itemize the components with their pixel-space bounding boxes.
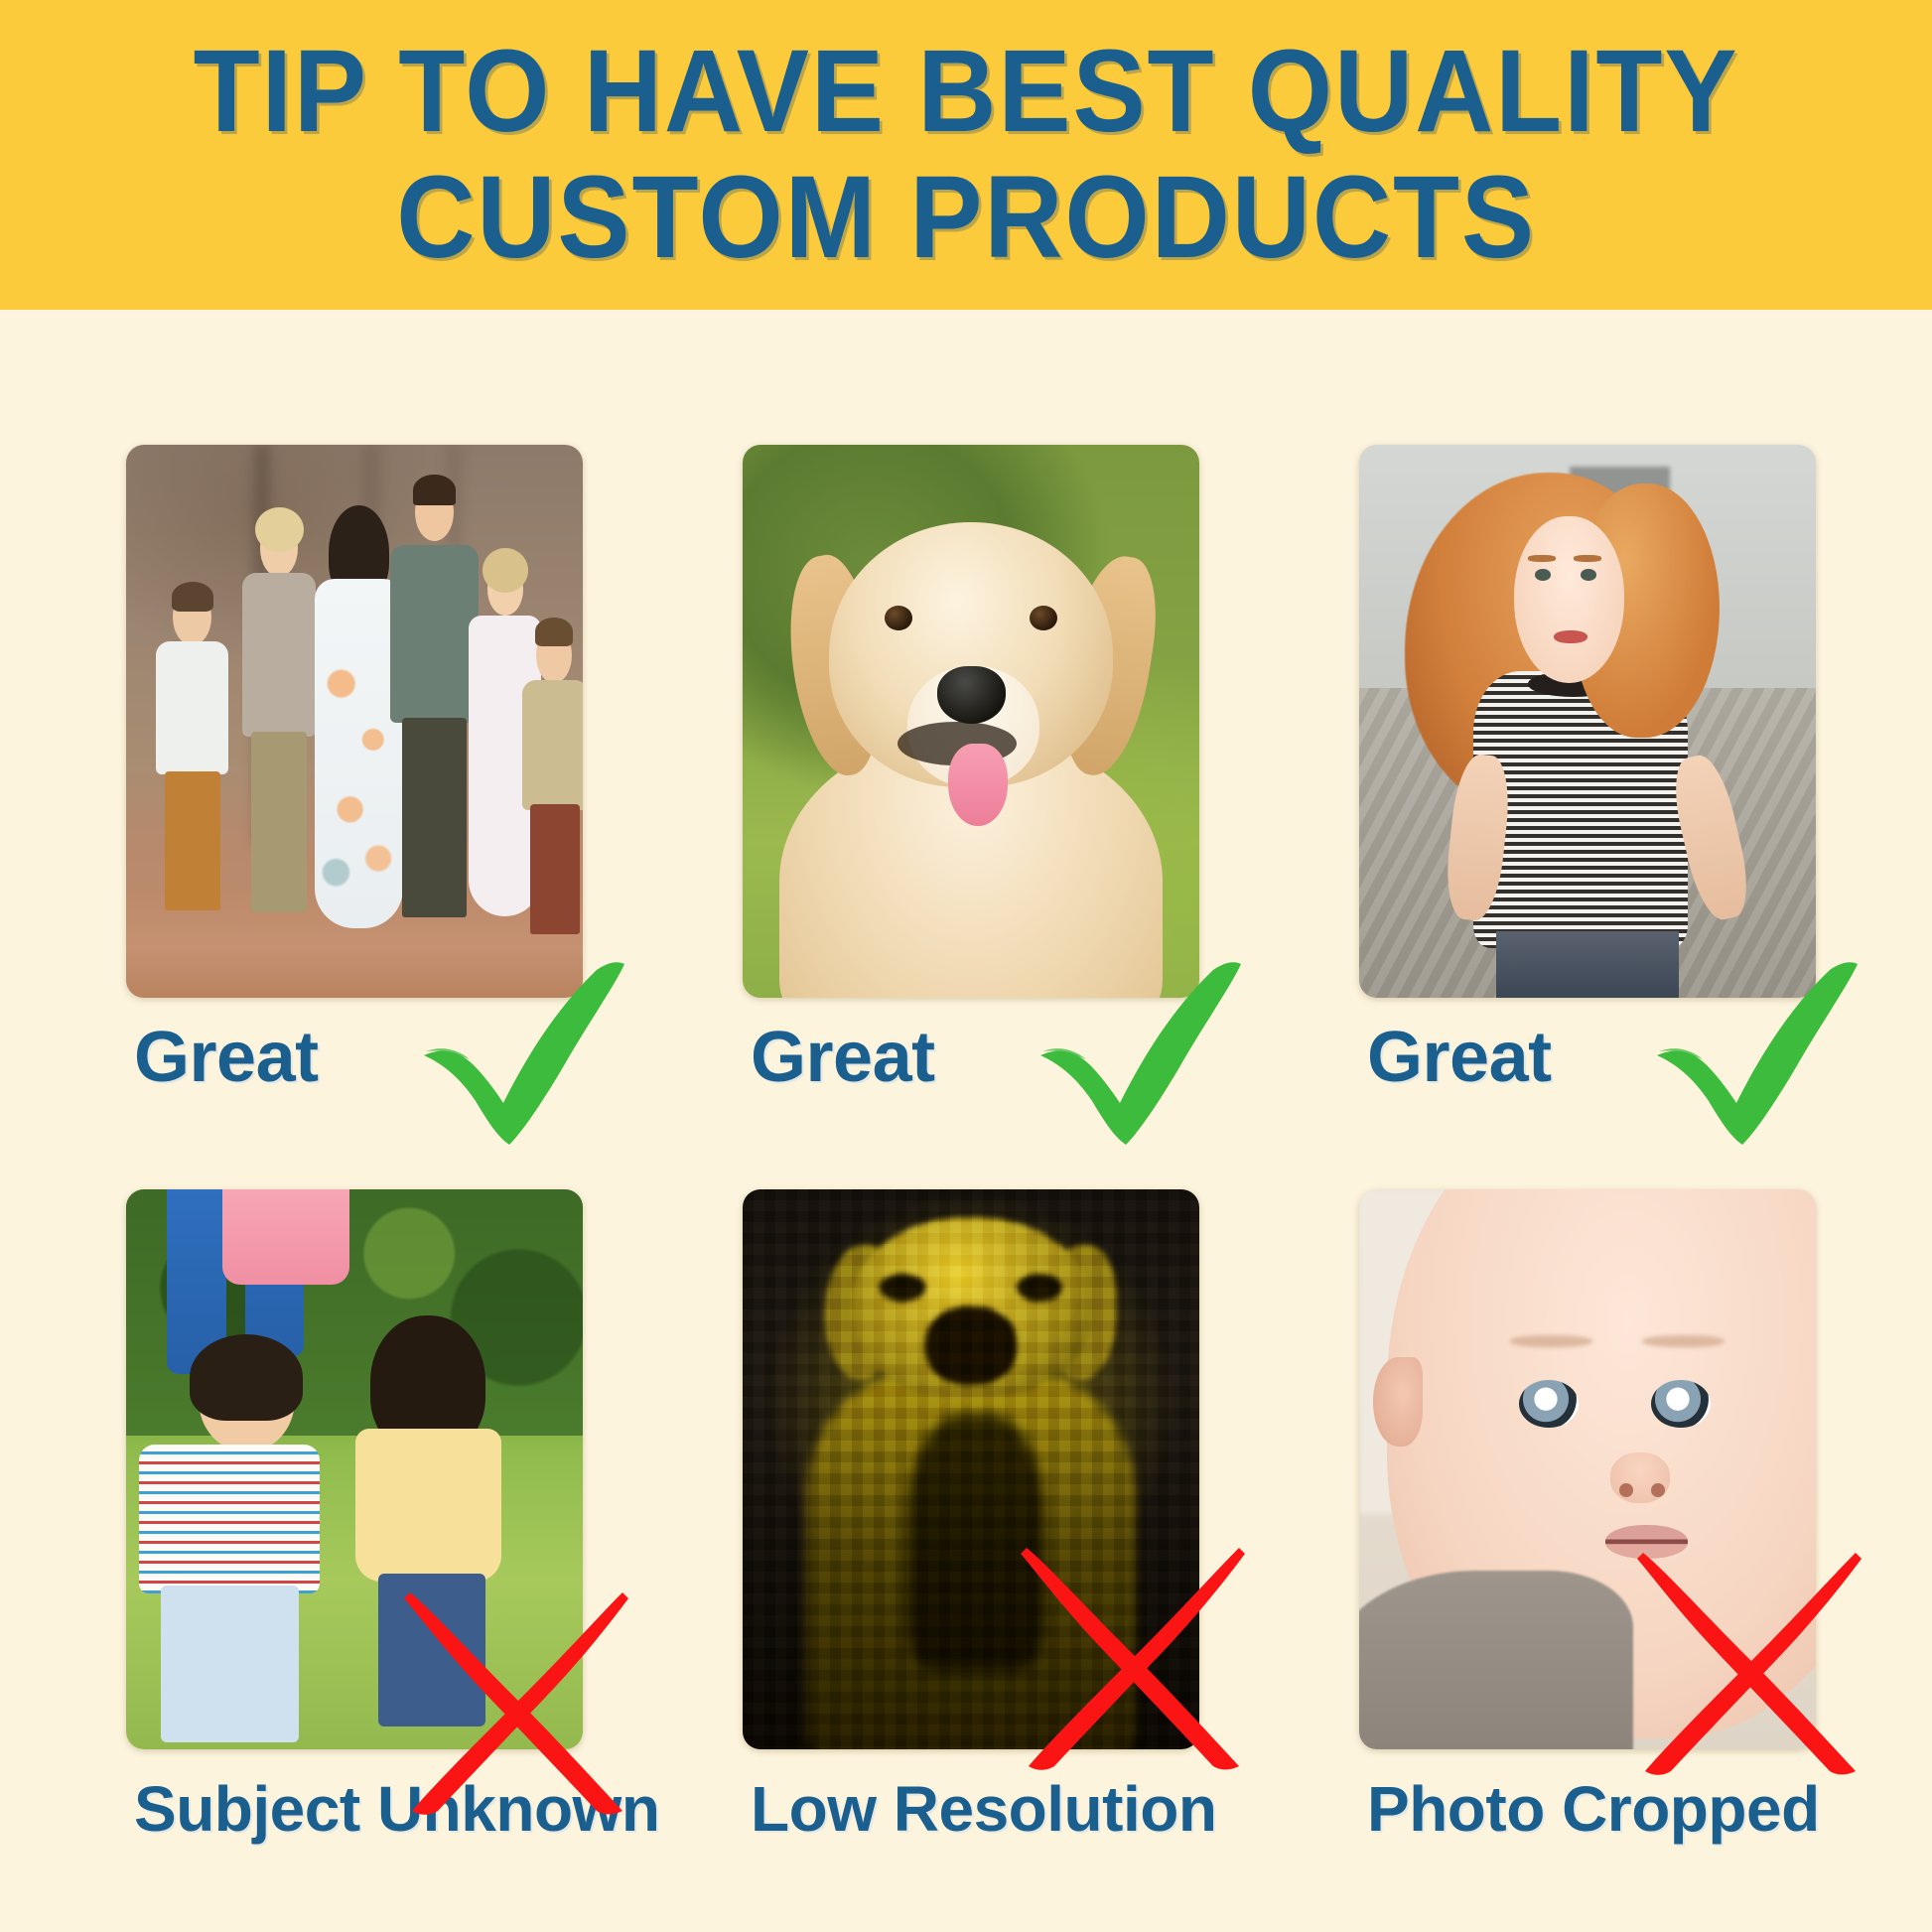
- example-label: Great: [751, 1017, 935, 1098]
- header-banner: TIP TO HAVE BEST QUALITY CUSTOM PRODUCTS: [0, 0, 1932, 310]
- caption-row: Great: [743, 998, 1199, 1117]
- caption-row: Photo Cropped: [1359, 1749, 1816, 1868]
- header-title-line-2: CUSTOM PRODUCTS: [396, 155, 1536, 281]
- examples-grid: Great Great: [0, 310, 1932, 1932]
- caption-row: Subject Unknown: [126, 1749, 583, 1868]
- caption-row: Great: [1359, 998, 1816, 1117]
- caption-row: Great: [126, 998, 583, 1117]
- photo-golden-retriever: [743, 445, 1199, 998]
- example-cell-dog: Great: [743, 445, 1199, 1117]
- example-label: Subject Unknown: [134, 1772, 659, 1846]
- example-cell-kids: Subject Unknown: [126, 1189, 583, 1868]
- example-label: Low Resolution: [751, 1772, 1216, 1846]
- example-label: Great: [134, 1017, 319, 1098]
- example-cell-lowres-dog: Low Resolution: [743, 1189, 1199, 1868]
- example-label: Great: [1367, 1017, 1552, 1098]
- header-title-line-1: TIP TO HAVE BEST QUALITY: [194, 29, 1739, 155]
- example-cell-family: Great: [126, 445, 583, 1117]
- photo-red-haired-woman: [1359, 445, 1816, 998]
- example-label: Photo Cropped: [1367, 1772, 1820, 1846]
- example-cell-baby: Photo Cropped: [1359, 1189, 1816, 1868]
- photo-family-group-portrait: [126, 445, 583, 998]
- example-cell-woman: Great: [1359, 445, 1816, 1117]
- caption-row: Low Resolution: [743, 1749, 1199, 1868]
- photo-cropped-baby: [1359, 1189, 1816, 1749]
- photo-pixelated-dog: [743, 1189, 1199, 1749]
- photo-children-running: [126, 1189, 583, 1749]
